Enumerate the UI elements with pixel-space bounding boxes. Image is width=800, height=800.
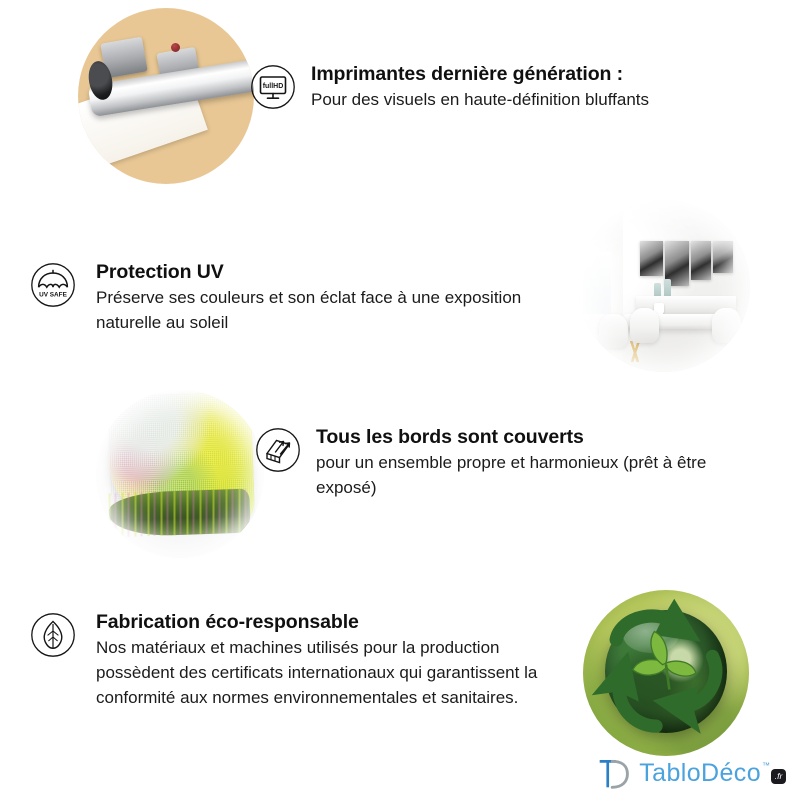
interior-chair-three bbox=[712, 308, 741, 342]
printer-roller-map-photo bbox=[78, 8, 254, 184]
interior-window bbox=[583, 252, 611, 314]
interior-vase-two bbox=[664, 279, 671, 298]
feature-uv-protection-text: Protection UV Préserve ses couleurs et s… bbox=[96, 260, 536, 336]
feature-print-quality-title: Imprimantes dernière génération : bbox=[311, 62, 649, 87]
feature-uv-protection-body: Préserve ses couleurs et son éclat face … bbox=[96, 286, 536, 335]
feature-eco-production-body: Nos matériaux et machines utilisés pour … bbox=[96, 636, 576, 710]
tablodeco-monogram-icon bbox=[596, 756, 632, 790]
uv-safe-umbrella-icon: UV SAFE bbox=[30, 262, 76, 308]
tablodeco-wordmark: TabloDéco ™ .fr bbox=[639, 761, 786, 786]
brand-name: TabloDéco bbox=[639, 761, 761, 786]
feature-print-quality-body: Pour des visuels en haute-définition blu… bbox=[311, 88, 649, 113]
feature-wrapped-edges-body: pour un ensemble propre et harmonieux (p… bbox=[316, 451, 716, 500]
eco-globe-recycling-photo bbox=[583, 590, 749, 756]
infographic-page: fullHD Imprimantes dernière génération :… bbox=[0, 0, 800, 800]
canvas-wrapped-side-edge bbox=[109, 488, 252, 537]
feature-wrapped-edges-text: Tous les bords sont couverts pour un ens… bbox=[316, 425, 716, 501]
wall-canvas-panels bbox=[640, 241, 733, 286]
leaf-eco-icon bbox=[30, 612, 76, 658]
recycling-arrows-and-leaves bbox=[583, 590, 749, 756]
bright-interior-canvas-photo bbox=[578, 200, 750, 372]
canvas-edge-paint-drips bbox=[109, 488, 252, 537]
interior-chair-two bbox=[630, 308, 659, 342]
feature-eco-production-text: Fabrication éco-responsable Nos matériau… bbox=[96, 610, 576, 710]
canvas-wrapped-edge-icon bbox=[255, 427, 301, 473]
svg-text:fullHD: fullHD bbox=[263, 83, 284, 90]
brand-logo[interactable]: TabloDéco ™ .fr bbox=[596, 756, 786, 790]
interior-chair-one bbox=[599, 314, 628, 348]
trademark-symbol: ™ bbox=[762, 762, 770, 770]
svg-text:UV SAFE: UV SAFE bbox=[39, 292, 67, 299]
feature-print-quality-text: Imprimantes dernière génération : Pour d… bbox=[311, 62, 649, 113]
tld-badge: .fr bbox=[771, 769, 786, 784]
fullhd-monitor-icon: fullHD bbox=[250, 64, 296, 110]
feature-eco-production-title: Fabrication éco-responsable bbox=[96, 610, 576, 635]
colorful-canvas-corner-photo bbox=[96, 390, 264, 558]
feature-wrapped-edges-title: Tous les bords sont couverts bbox=[316, 425, 716, 450]
feature-uv-protection-title: Protection UV bbox=[96, 260, 536, 285]
